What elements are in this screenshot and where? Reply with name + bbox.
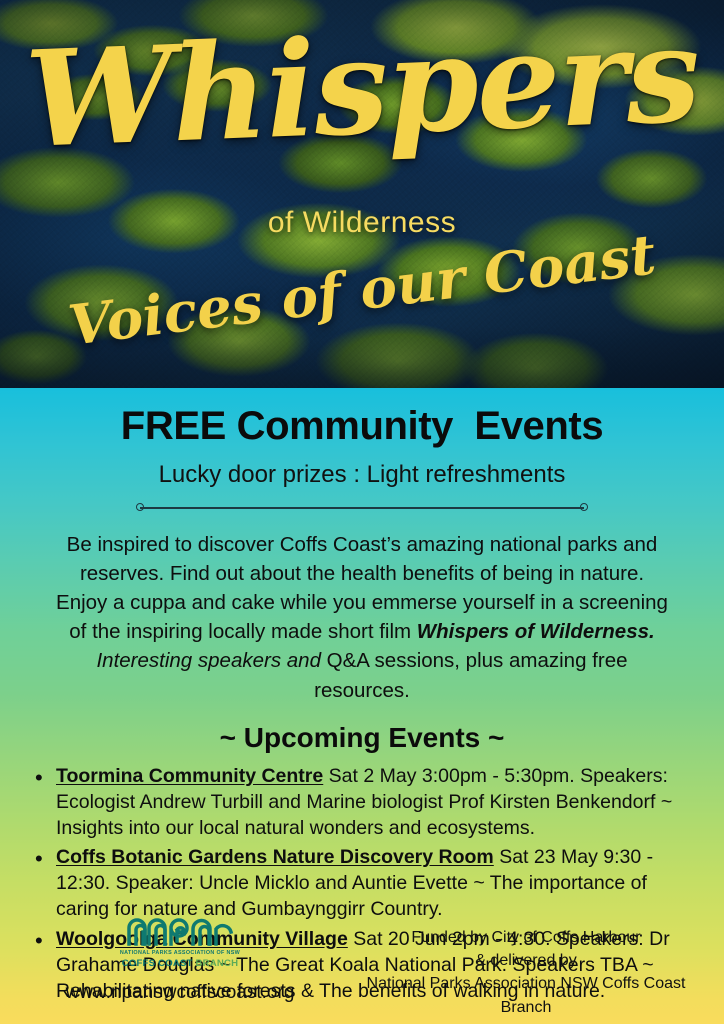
npa-logo-icon: [125, 908, 235, 948]
events-heading: FREE Community Events: [0, 404, 724, 449]
film-title: Whispers of Wilderness.: [417, 620, 655, 643]
intro-text-italic: Interesting speakers and: [96, 649, 321, 672]
npa-logo: [125, 908, 235, 948]
divider: [136, 503, 588, 512]
footer-left: NATIONAL PARKS ASSOCIATION OF NSW COFFS …: [0, 904, 360, 1004]
upcoming-events-heading: ~ Upcoming Events ~: [0, 722, 724, 754]
website-url[interactable]: www.npanswcoffscoast.org: [0, 982, 360, 1004]
credit-line-3: National Parks Association NSW Coffs Coa…: [346, 972, 706, 1018]
hero-banner: Whispers of Wilderness Voices of our Coa…: [0, 0, 724, 388]
credit-line-1: Funded by City of Coffs Harbour: [346, 926, 706, 949]
list-item: Toormina Community Centre Sat 2 May 3:00…: [56, 764, 696, 842]
content-panel: FREE Community Events Lucky door prizes …: [0, 388, 724, 1024]
logo-association-line: NATIONAL PARKS ASSOCIATION OF NSW: [0, 950, 360, 956]
poster-footer: NATIONAL PARKS ASSOCIATION OF NSW COFFS …: [0, 904, 724, 1014]
credit-line-2: & delivered by: [346, 949, 706, 972]
divider-dot-right: [580, 503, 588, 511]
logo-branch-light: BRANCH: [196, 958, 239, 969]
event-venue: Toormina Community Centre: [56, 765, 323, 787]
poster-title: Whispers: [0, 8, 724, 168]
event-venue: Coffs Botanic Gardens Nature Discovery R…: [56, 846, 494, 868]
poster: Whispers of Wilderness Voices of our Coa…: [0, 0, 724, 1024]
logo-branch-bold: COFFS COAST: [122, 958, 193, 969]
intro-paragraph: Be inspired to discover Coffs Coast’s am…: [54, 530, 670, 705]
divider-line: [140, 507, 584, 509]
events-subheading: Lucky door prizes : Light refreshments: [0, 461, 724, 489]
funding-credits: Funded by City of Coffs Harbour & delive…: [346, 926, 706, 1019]
logo-branch-line: COFFS COAST BRANCH: [0, 958, 360, 969]
intro-text-part3: Q&A sessions, plus amazing free resource…: [314, 649, 627, 701]
